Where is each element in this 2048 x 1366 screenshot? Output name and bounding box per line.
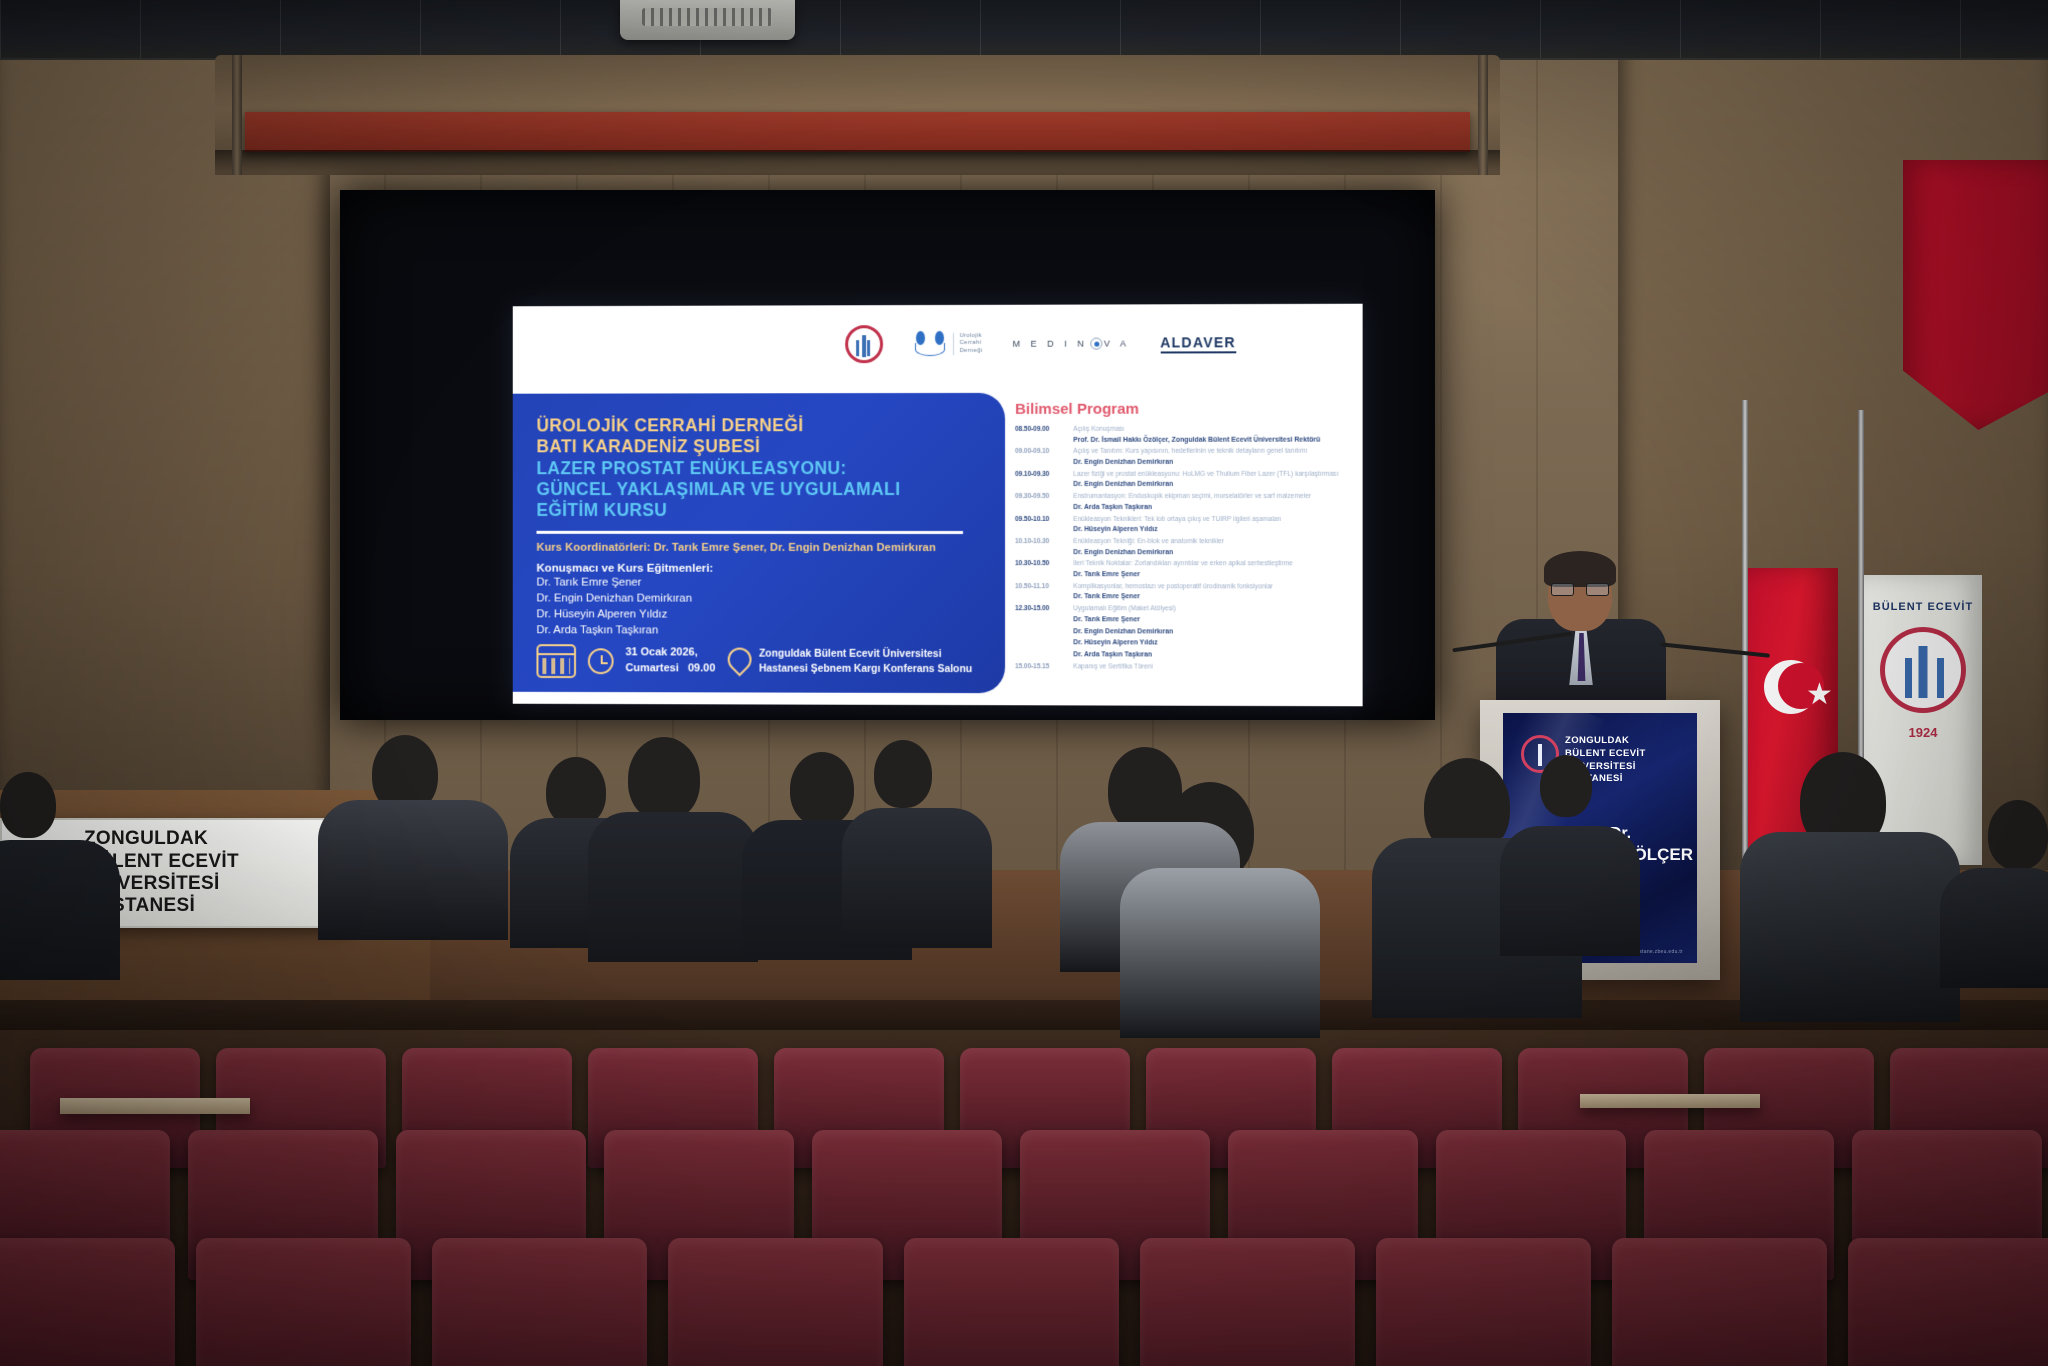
audience-person (1740, 832, 1960, 1022)
ceiling-projector (620, 0, 795, 40)
program-person: Dr. Engin Denizhan Demirkıran (1073, 458, 1352, 468)
audience-seat (1140, 1238, 1355, 1366)
program-person: Dr. Hüseyin Alperen Yıldız (1073, 639, 1352, 649)
program-topic: Açılış Konuşması (1073, 425, 1124, 435)
ucd-line-1: Urolojik (959, 333, 982, 341)
date-time-block: 31 Ocak 2026, Cumartesi 09.00 (626, 645, 716, 677)
speaker-hair (1544, 551, 1616, 587)
ceiling-band (0, 0, 2048, 60)
program-person: Dr. Arda Taşkın Taşkıran (1073, 651, 1352, 662)
program-time: 08.50-09.00 (1015, 425, 1067, 435)
slide-logo-strip: Urolojik Cerrahi Derneği M E D I N V A A… (513, 304, 1363, 384)
audience-seat (432, 1238, 647, 1366)
slide-title-line-1: ÜROLOJİK CERRAHİ DERNEĞİ (536, 415, 981, 437)
speaker-item: Dr. Engin Denizhan Demirkıran (536, 590, 981, 607)
sign-line-2: BÜLENT ECEVİT ÜNİVERSİTESİ (84, 851, 332, 896)
program-list: 08.50-09.00Açılış KonuşmasıProf. Dr. İsm… (1015, 425, 1352, 673)
program-person: Dr. Tarık Emre Şener (1073, 592, 1352, 602)
event-date-line-1: 31 Ocak 2026, (626, 645, 716, 661)
program-row: 09.10-09.30Lazer fiziği ve prostat enükl… (1015, 470, 1352, 480)
program-row: 10.30-10.50İleri Teknik Noktalar: Zorlan… (1015, 559, 1352, 569)
program-topic: Lazer fiziği ve prostat enükleasyonu: Ho… (1073, 470, 1338, 480)
zbeu-crest-logo (846, 325, 884, 363)
slide-title-line-3: LAZER PROSTAT ENÜKLEASYONU: (536, 458, 981, 480)
program-row: 12.30-15.00Uygulamalı Eğitim (Maket Atöl… (1015, 604, 1352, 614)
program-title: Bilimsel Program (1015, 400, 1352, 418)
program-row: 09.30-09.50Enstrumantasyon: Endoskopik e… (1015, 492, 1352, 502)
program-person: Dr. Tarık Emre Şener (1073, 570, 1352, 580)
audience-seat (1848, 1238, 2048, 1366)
medinova-right-text: V A (1104, 339, 1130, 349)
speaker-item: Dr. Hüseyin Alperen Yıldız (536, 606, 981, 623)
audience-seat (0, 1238, 175, 1366)
presentation-slide: Urolojik Cerrahi Derneği M E D I N V A A… (513, 304, 1363, 707)
sign-line-1: ZONGULDAK (84, 828, 332, 850)
program-time: 09.00-09.10 (1015, 447, 1067, 457)
soffit-red-band (245, 112, 1470, 152)
program-person: Dr. Arda Taşkın Taşkıran (1073, 503, 1352, 513)
program-row: 08.50-09.00Açılış Konuşması (1015, 425, 1352, 435)
program-row: 09.50-10.10Enükleasyon Teknikleri: Tek l… (1015, 515, 1352, 525)
sign-line-3: HASTANESİ (84, 895, 332, 917)
ucd-logo-text: Urolojik Cerrahi Derneği (953, 333, 982, 356)
eyeglasses-icon (1551, 583, 1609, 596)
audience-person (1940, 868, 2048, 988)
venue-line-1: Zonguldak Bülent Ecevit Üniversitesi (759, 647, 972, 663)
clock-icon (588, 648, 614, 674)
medinova-left-text: M E D I N (1013, 339, 1088, 349)
program-row: 15.00-15.15Kapanış ve Sertifika Töreni (1015, 662, 1352, 672)
program-person: Prof. Dr. İsmail Hakkı Özölçer, Zongulda… (1073, 435, 1352, 445)
program-row: 09.00-09.10Açılış ve Tanıtım: Kurs yapıs… (1015, 447, 1352, 457)
audience-person (842, 808, 992, 948)
medinova-dot-icon (1090, 338, 1102, 350)
slide-title-line-5: EĞİTİM KURSU (536, 500, 981, 521)
star-icon: ★ (1806, 680, 1833, 710)
program-row: 10.10-10.30Enükleasyon Tekniği: En-blok … (1015, 537, 1352, 547)
audience-head (0, 772, 56, 838)
program-time: 09.30-09.50 (1015, 492, 1067, 502)
program-topic: Kapanış ve Sertifika Töreni (1073, 662, 1152, 672)
lectern-foot-right: hastane.zbeu.edu.tr (1633, 949, 1683, 955)
audience-head (546, 757, 606, 827)
program-time: 09.50-10.10 (1015, 515, 1067, 525)
audience-head (874, 740, 932, 808)
audience-table (1580, 1094, 1760, 1108)
program-topic: Komplikasyonlar, hemostazı ve postoperat… (1073, 582, 1273, 592)
program-time: 10.30-10.50 (1015, 559, 1067, 569)
program-time: 12.30-15.00 (1015, 604, 1067, 614)
audience-person (1120, 868, 1320, 1038)
auditorium-scene: Urolojik Cerrahi Derneği M E D I N V A A… (0, 0, 2048, 1366)
location-pin-icon (727, 648, 747, 676)
program-time: 15.00-15.15 (1015, 662, 1067, 672)
audience-person (0, 840, 120, 980)
lectern-univ-line-1: ZONGULDAK (1565, 735, 1697, 748)
program-topic: Enstrumantasyon: Endoskopik ekipman seçi… (1073, 492, 1311, 502)
program-person: Dr. Engin Denizhan Demirkıran (1073, 548, 1352, 558)
ceiling-tiles (0, 0, 2048, 58)
venue-block: Zonguldak Bülent Ecevit Üniversitesi Has… (759, 647, 972, 678)
event-date-line-2: Cumartesi (626, 662, 679, 674)
speaker-item: Dr. Arda Taşkın Taşkıran (536, 623, 981, 640)
audience-seat (668, 1238, 883, 1366)
soffit-rod-right (1478, 55, 1488, 175)
university-flag-year: 1924 (1864, 725, 1982, 740)
program-person: Dr. Tarık Emre Şener (1073, 615, 1352, 625)
program-person: Dr. Engin Denizhan Demirkıran (1073, 627, 1352, 637)
ucd-line-2: Cerrahi (959, 340, 982, 348)
calendar-icon (536, 644, 576, 678)
audience-seat (904, 1238, 1119, 1366)
audience-seat (196, 1238, 411, 1366)
program-topic: Enükleasyon Teknikleri: Tek lob ortaya ç… (1073, 515, 1281, 525)
program-topic: Enükleasyon Tekniği: En-blok ve anatomik… (1073, 537, 1224, 547)
slide-title-line-2: BATI KARADENİZ ŞUBESİ (536, 436, 981, 458)
program-topic: Uygulamalı Eğitim (Maket Atölyesi) (1073, 604, 1175, 614)
kidney-icon (913, 331, 947, 357)
venue-line-2: Hastanesi Şebnem Kargı Konferans Salonu (759, 662, 972, 678)
program-topic: Açılış ve Tanıtım: Kurs yapısının, hedef… (1073, 447, 1307, 457)
aldaver-logo: ALDAVER (1160, 334, 1236, 353)
audience-seat (1376, 1238, 1591, 1366)
audience-head (790, 752, 854, 826)
audience-table (60, 1098, 250, 1114)
hospital-sign-text: ZONGULDAK BÜLENT ECEVİT ÜNİVERSİTESİ HAS… (84, 828, 332, 918)
audience-seat (1612, 1238, 1827, 1366)
program-time: 09.10-09.30 (1015, 470, 1067, 480)
event-time: 09.00 (688, 662, 715, 674)
audience-person (318, 800, 508, 940)
audience-person (588, 812, 758, 962)
program-person: Dr. Engin Denizhan Demirkıran (1073, 480, 1352, 490)
program-time: 10.50-11.10 (1015, 582, 1067, 592)
program-person: Dr. Hüseyin Alperen Yıldız (1073, 525, 1352, 535)
university-flag-top-text: BÜLENT ECEVİT (1864, 601, 1982, 613)
audience-person (1500, 826, 1640, 956)
ucd-line-3: Derneği (959, 348, 982, 356)
university-crest-icon (1880, 627, 1966, 713)
program-row: 10.50-11.10Komplikasyonlar, hemostazı ve… (1015, 582, 1352, 592)
speaker-item: Dr. Tarık Emre Şener (536, 574, 981, 591)
slide-meta-row: 31 Ocak 2026, Cumartesi 09.00 Zonguldak … (536, 644, 972, 679)
soffit-rod-left (232, 55, 242, 175)
course-coordinators: Kurs Koordinatörleri: Dr. Tarık Emre Şen… (536, 541, 981, 553)
slide-title-line-4: GÜNCEL YAKLAŞIMLAR VE UYGULAMALI (536, 479, 981, 500)
program-topic: İleri Teknik Noktalar: Zorlandıkları ayr… (1073, 559, 1292, 569)
audience-head (1540, 755, 1592, 817)
scientific-program: Bilimsel Program 08.50-09.00Açılış Konuş… (1015, 400, 1352, 673)
program-time: 10.10-10.30 (1015, 537, 1067, 547)
speakers-heading: Konuşmacı ve Kurs Eğitmenleri: (536, 561, 981, 574)
audience-head (628, 737, 700, 821)
medinova-logo: M E D I N V A (1013, 338, 1130, 350)
slide-title-panel: ÜROLOJİK CERRAHİ DERNEĞİ BATI KARADENİZ … (513, 393, 1005, 693)
audience-head (1988, 800, 2048, 870)
soffit-shadow (215, 150, 1500, 172)
title-divider (536, 531, 963, 534)
urolojik-cerrahi-dernegi-logo: Urolojik Cerrahi Derneği (913, 331, 982, 357)
